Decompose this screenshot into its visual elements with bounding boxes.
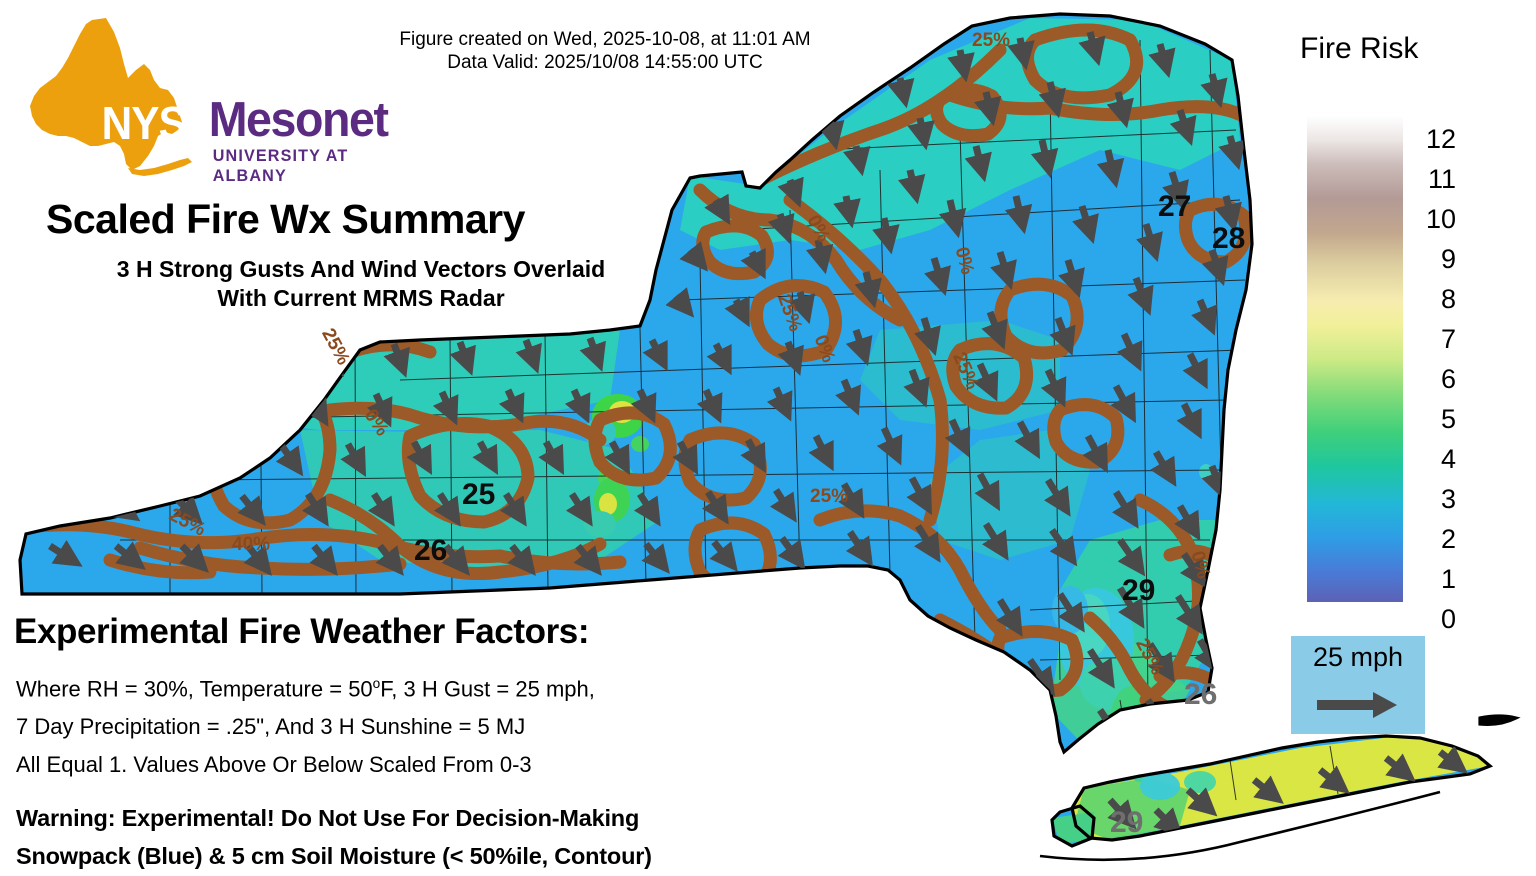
gust-label: 27 — [1158, 190, 1191, 224]
warning-line-2: Snowpack (Blue) & 5 cm Soil Moisture (< … — [16, 843, 652, 870]
colorbar-tick: 3 — [1441, 486, 1456, 513]
colorbar-tick: 6 — [1441, 366, 1456, 393]
wind-speed-legend: 25 mph — [1291, 636, 1425, 734]
colorbar-tick: 12 — [1426, 126, 1456, 153]
factors-line-1-b: F, 3 H Gust = 25 mph, — [380, 676, 595, 701]
contour-label: 0% — [1185, 549, 1214, 581]
contour-label: 0% — [802, 212, 834, 247]
gust-label: 28 — [1212, 222, 1245, 256]
factors-heading: Experimental Fire Weather Factors: — [14, 612, 589, 652]
factors-line-3: All Equal 1. Values Above Or Below Scale… — [16, 752, 532, 778]
logo-nys-text: NYS — [102, 96, 186, 150]
colorbar-tick: 11 — [1428, 166, 1456, 193]
wind-arrow-icon — [1317, 690, 1399, 720]
gust-label: 29 — [1122, 574, 1155, 608]
figure-timestamp-block: Figure created on Wed, 2025-10-08, at 11… — [360, 28, 850, 74]
nys-mesonet-logo: NYS Mesonet UNIVERSITY AT ALBANY — [18, 18, 398, 178]
gust-label: 25 — [462, 478, 495, 512]
colorbar-tick: 0 — [1441, 606, 1456, 633]
colorbar-tick: 4 — [1441, 446, 1456, 473]
contour-label: 25% — [1130, 635, 1167, 679]
contour-label: 0% — [359, 405, 393, 440]
colorbar-tick: 9 — [1441, 246, 1456, 273]
page-subtitle-1: 3 H Strong Gusts And Wind Vectors Overla… — [46, 256, 676, 283]
created-timestamp: Figure created on Wed, 2025-10-08, at 11… — [360, 28, 850, 51]
colorbar-tick: 1 — [1441, 566, 1456, 593]
contour-label: 25% — [972, 30, 1010, 52]
factors-line-1: Where RH = 30%, Temperature = 50oF, 3 H … — [16, 676, 595, 702]
contour-label: 40% — [232, 534, 270, 556]
page-subtitle-2: With Current MRMS Radar — [46, 285, 676, 312]
colorbar-tick: 8 — [1441, 286, 1456, 313]
contour-label: 25% — [165, 504, 209, 541]
contour-label: 25% — [947, 349, 983, 393]
factors-line-1-a: Where RH = 30%, Temperature = 50 — [16, 676, 373, 701]
contour-label: 0% — [809, 332, 839, 365]
gust-label: 29 — [1110, 806, 1143, 840]
contour-label: 25% — [316, 325, 353, 369]
logo-mesonet-text: Mesonet — [209, 92, 388, 148]
contour-label: 0% — [950, 245, 978, 277]
colorbar-tick-labels: 12 11 10 9 8 7 6 5 4 3 2 1 0 — [1420, 108, 1480, 608]
fire-risk-colorbar — [1307, 116, 1403, 602]
wind-legend-label: 25 mph — [1291, 642, 1425, 673]
page-title: Scaled Fire Wx Summary — [46, 196, 525, 243]
colorbar-tick: 10 — [1426, 206, 1456, 233]
colorbar-tick: 2 — [1441, 526, 1456, 553]
logo-university-text: UNIVERSITY AT ALBANY — [213, 146, 394, 186]
warning-line-1: Warning: Experimental! Do Not Use For De… — [16, 805, 639, 832]
colorbar-tick: 5 — [1441, 406, 1456, 433]
contour-label: 25% — [772, 291, 806, 334]
contour-label: 25% — [810, 486, 848, 508]
factors-line-2: 7 Day Precipitation = .25", And 3 H Suns… — [16, 714, 525, 740]
gust-label: 26 — [414, 534, 447, 568]
colorbar-tick: 7 — [1441, 326, 1456, 353]
valid-timestamp: Data Valid: 2025/10/08 14:55:00 UTC — [360, 51, 850, 74]
colorbar-title: Fire Risk — [1300, 32, 1418, 66]
gust-label: 26 — [1184, 678, 1217, 712]
